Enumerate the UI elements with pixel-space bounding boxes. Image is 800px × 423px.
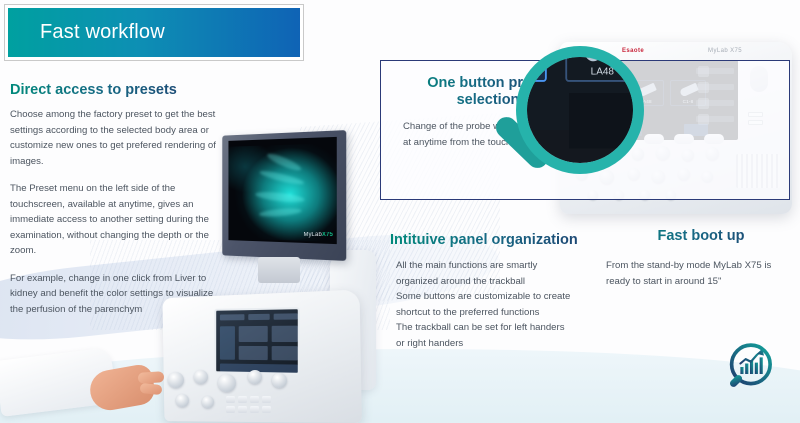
touch-tile[interactable] — [248, 314, 269, 320]
monitor-brand-logo: MyLabX75 — [303, 232, 333, 238]
panel-line-4: shortcut to the preferred functions — [396, 305, 615, 321]
touch-tile[interactable] — [274, 313, 298, 319]
panel-line-3: Some buttons are customizable to create — [396, 289, 615, 305]
page-title: Fast workflow — [8, 21, 165, 44]
console-key[interactable] — [226, 406, 235, 413]
preset-menu-panel[interactable] — [220, 326, 235, 360]
fast-boot-body: From the stand-by mode MyLab X75 is read… — [606, 258, 796, 289]
title-banner-frame: Fast workflow — [4, 4, 304, 61]
magnifier-chart-icon — [722, 339, 778, 395]
touch-tile[interactable] — [239, 326, 268, 342]
presets-body: Choose among the factory preset to get t… — [10, 107, 225, 317]
brand-name-label: Esaote — [622, 48, 644, 54]
panel-organization-heading: Intituive panel organization — [390, 232, 615, 248]
probe-callout-content: One button probe selection Change of the… — [399, 75, 577, 150]
console-knob[interactable] — [272, 373, 287, 388]
console-key[interactable] — [262, 396, 271, 403]
slide-canvas: Fast workflow Esaote MyLab X75 LA33 LA48… — [0, 0, 800, 423]
touch-tile[interactable] — [272, 326, 298, 342]
hand-finger — [138, 371, 165, 384]
panel-line-2: organized around the trackball — [396, 274, 615, 290]
console-key[interactable] — [262, 406, 271, 413]
console-key[interactable] — [226, 396, 235, 403]
console-key[interactable] — [250, 396, 259, 403]
console-knob[interactable] — [202, 396, 214, 408]
console-trackball[interactable] — [218, 374, 236, 392]
panel-line-1: All the main functions are smartly — [396, 258, 615, 274]
monitor-logo-model: X75 — [322, 232, 333, 238]
panel-line-6: or right handers — [396, 336, 615, 352]
monitor-illustration: MyLabX75 — [218, 133, 345, 258]
probe-callout-box: One button probe selection Change of the… — [380, 60, 790, 200]
panel-line-5: The trackball can be set for left hander… — [396, 320, 615, 336]
touch-tile[interactable] — [239, 346, 268, 360]
probe-callout-body: Change of the probe with a single click … — [399, 119, 577, 150]
touch-tile[interactable] — [272, 346, 298, 360]
console-key[interactable] — [250, 406, 259, 413]
title-banner: Fast workflow — [8, 8, 300, 57]
presets-section: Direct access to presets Choose among th… — [10, 82, 225, 317]
fast-boot-heading: Fast boot up — [606, 228, 796, 244]
presets-paragraph-2: The Preset menu on the left side of the … — [10, 181, 225, 259]
fast-boot-section: Fast boot up From the stand-by mode MyLa… — [606, 228, 796, 289]
panel-organization-body: All the main functions are smartly organ… — [390, 258, 615, 351]
operator-hand — [0, 346, 178, 423]
console-knob[interactable] — [194, 370, 208, 384]
presets-heading: Direct access to presets — [10, 82, 225, 98]
panel-organization-section: Intituive panel organization All the mai… — [390, 232, 615, 351]
brand-model-label: MyLab X75 — [708, 48, 742, 54]
console-key[interactable] — [238, 396, 247, 403]
lower-console-touchscreen[interactable] — [214, 307, 299, 375]
magnifier-chart-badge — [722, 339, 778, 395]
probe-callout-heading: One button probe selection — [399, 75, 577, 109]
presets-paragraph-3: For example, change in one click from Li… — [10, 271, 225, 318]
lower-console-controls[interactable] — [164, 368, 354, 422]
console-knob[interactable] — [248, 370, 262, 384]
presets-paragraph-1: Choose among the factory preset to get t… — [10, 107, 225, 169]
console-key[interactable] — [238, 406, 247, 413]
monitor-logo-prefix: MyLab — [303, 232, 321, 238]
monitor-screen — [228, 137, 336, 244]
console-branding: Esaote MyLab X75 — [622, 48, 742, 54]
